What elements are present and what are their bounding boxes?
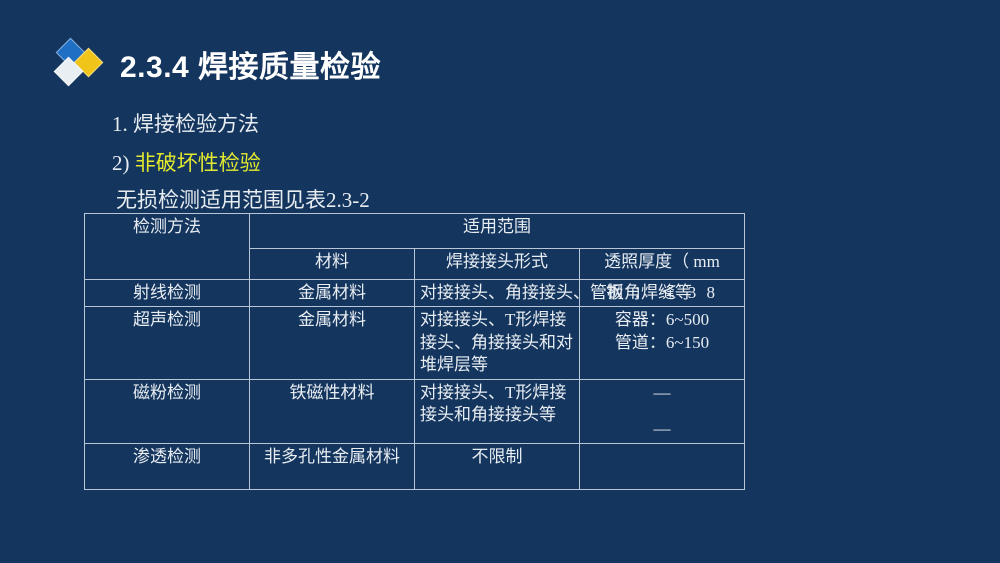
cell-method-radiographic: 射线检测 [85,280,250,307]
list-marker-2: 2) [112,151,130,175]
header-cell-material: 材料 [250,249,415,280]
table-row: 射线检测 金属材料 对接接头、角接接头、管板角焊缝等 钢 ： ＜ 3 8 [85,280,745,307]
cell-joint-radiographic: 对接接头、角接接头、管板角焊缝等 [415,280,580,307]
ndt-table-wrapper: 检测方法 适用范围 材料 焊接接头形式 透照厚度（ mm 射线检测 金属材料 对… [84,213,745,490]
table-row: 超声检测 金属材料 对接接头、T形焊接接头、角接接头和对堆焊层等 容器：6~50… [85,307,745,379]
cell-material-ultrasonic: 金属材料 [250,307,415,379]
slide-title-row: 2.3.4 焊接质量检验 [50,36,381,92]
cell-material-penetrant: 非多孔性金属材料 [250,443,415,489]
cell-joint-penetrant: 不限制 [415,443,580,489]
body-line-method-heading: 1. 焊接检验方法 [112,108,259,138]
table-header-row-1: 检测方法 适用范围 [85,214,745,249]
cell-material-magnetic: 铁磁性材料 [250,379,415,443]
body-line-nondestructive: 2) 非破坏性检验 [112,147,261,177]
cell-thickness-penetrant [580,443,745,489]
thickness-pipe: 管道：6~150 [585,332,739,354]
thickness-dash-upper: — [585,382,739,404]
cell-method-ultrasonic: 超声检测 [85,307,250,379]
header-cell-thickness: 透照厚度（ mm [580,249,745,280]
cell-joint-magnetic: 对接接头、T形焊接接头和角接接头等 [415,379,580,443]
thickness-dash-spacer [585,404,739,418]
cell-thickness-magnetic: — — [580,379,745,443]
table-row: 磁粉检测 铁磁性材料 对接接头、T形焊接接头和角接接头等 — — [85,379,745,443]
header-cell-method: 检测方法 [85,214,250,280]
table-row: 渗透检测 非多孔性金属材料 不限制 [85,443,745,489]
slide-canvas: 2.3.4 焊接质量检验 1. 焊接检验方法 2) 非破坏性检验 无损检测适用范… [0,0,1000,563]
cell-joint-ultrasonic: 对接接头、T形焊接接头、角接接头和对堆焊层等 [415,307,580,379]
header-cell-joint: 焊接接头形式 [415,249,580,280]
thickness-dash-lower: — [585,418,739,440]
body-line-table-reference: 无损检测适用范围见表2.3-2 [116,184,370,214]
cell-thickness-ultrasonic: 容器：6~500 管道：6~150 [580,307,745,379]
thickness-vessel: 容器：6~500 [585,309,739,331]
ndt-scope-table: 检测方法 适用范围 材料 焊接接头形式 透照厚度（ mm 射线检测 金属材料 对… [84,213,745,490]
highlight-nondestructive-test: 非破坏性检验 [135,151,261,175]
cell-material-radiographic: 金属材料 [250,280,415,307]
cell-method-magnetic: 磁粉检测 [85,379,250,443]
cell-method-penetrant: 渗透检测 [85,443,250,489]
page-title: 2.3.4 焊接质量检验 [120,42,381,86]
three-diamond-logo [50,36,112,92]
joint-unrestricted-label: 不限制 [420,446,574,468]
header-cell-scope: 适用范围 [250,214,745,249]
